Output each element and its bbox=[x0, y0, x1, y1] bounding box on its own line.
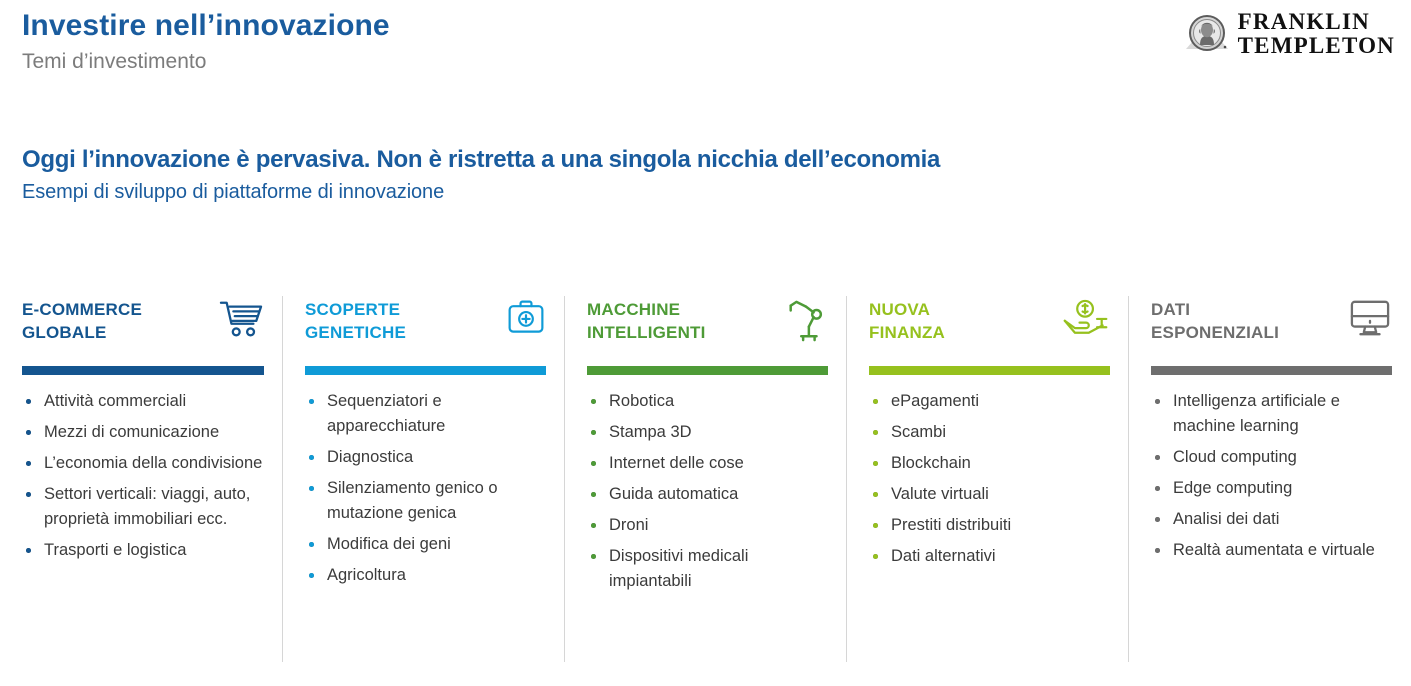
list-item: Dati alternativi bbox=[869, 544, 1110, 569]
franklin-templeton-logo: FRANKLIN TEMPLETON bbox=[1184, 10, 1395, 58]
column-title-line2: GLOBALE bbox=[22, 321, 142, 344]
logo-line-templeton: TEMPLETON bbox=[1238, 34, 1395, 58]
column-title-line2: FINANZA bbox=[869, 321, 945, 344]
column-title-line1: SCOPERTE bbox=[305, 298, 406, 321]
column-header: E-COMMERCE GLOBALE bbox=[22, 296, 264, 358]
bullet-dot bbox=[873, 492, 878, 497]
list-item-label: Agricoltura bbox=[327, 566, 406, 584]
bullet-dot bbox=[309, 399, 314, 404]
column-accent-bar bbox=[869, 366, 1110, 375]
title-block: Investire nell’innovazione Temi d’invest… bbox=[22, 8, 390, 76]
column-header: NUOVA FINANZA bbox=[869, 296, 1110, 358]
shopping-cart-icon bbox=[216, 296, 264, 346]
column-scoperte-genetiche: SCOPERTE GENETICHE Sequenziatori e appar… bbox=[282, 296, 564, 662]
list-item: Attività commerciali bbox=[22, 389, 264, 414]
column-macchine-intelligenti: MACCHINE INTELLIGENTI Robotica Stampa bbox=[564, 296, 846, 662]
column-title-line2: GENETICHE bbox=[305, 321, 406, 344]
list-item: L’economia della condivisione bbox=[22, 451, 264, 476]
bullet-dot bbox=[591, 430, 596, 435]
bullet-dot bbox=[26, 461, 31, 466]
bullet-dot bbox=[309, 573, 314, 578]
list-item: Dispositivi medicali impiantabili bbox=[587, 544, 828, 594]
list-item: Sequenziatori e apparecchiature bbox=[305, 389, 546, 439]
list-item-label: Cloud computing bbox=[1173, 448, 1297, 466]
list-item-label: Prestiti distribuiti bbox=[891, 516, 1011, 534]
bullet-dot bbox=[873, 430, 878, 435]
list-item-label: Silenziamento genico o mutazione genica bbox=[327, 479, 498, 522]
bullet-dot bbox=[873, 461, 878, 466]
column-bullet-list: Robotica Stampa 3D Internet delle cose G… bbox=[587, 389, 828, 594]
list-item: Robotica bbox=[587, 389, 828, 414]
column-title-line1: MACCHINE bbox=[587, 298, 706, 321]
bullet-dot bbox=[309, 486, 314, 491]
bullet-dot bbox=[1155, 548, 1160, 553]
medical-bag-icon bbox=[498, 296, 546, 346]
theme-columns: E-COMMERCE GLOBALE Attività commerciali … bbox=[0, 296, 1411, 662]
list-item-label: Trasporti e logistica bbox=[44, 541, 186, 559]
bullet-dot bbox=[1155, 399, 1160, 404]
column-bullet-list: ePagamenti Scambi Blockchain Valute virt… bbox=[869, 389, 1110, 569]
list-item: Blockchain bbox=[869, 451, 1110, 476]
column-header: SCOPERTE GENETICHE bbox=[305, 296, 546, 358]
franklin-portrait-medallion-icon bbox=[1184, 11, 1230, 57]
hand-holding-coin-icon bbox=[1062, 296, 1110, 346]
bullet-dot bbox=[26, 399, 31, 404]
headline-block: Oggi l’innovazione è pervasiva. Non è ri… bbox=[22, 145, 1362, 205]
list-item: Cloud computing bbox=[1151, 445, 1392, 470]
list-item: Scambi bbox=[869, 420, 1110, 445]
bullet-dot bbox=[873, 523, 878, 528]
column-bullet-list: Sequenziatori e apparecchiature Diagnost… bbox=[305, 389, 546, 588]
column-dati-esponenziali: DATI ESPONENZIALI Intelligenza artificia… bbox=[1128, 296, 1410, 662]
list-item: ePagamenti bbox=[869, 389, 1110, 414]
list-item-label: Settori verticali: viaggi, auto, proprie… bbox=[44, 485, 250, 528]
list-item-label: Internet delle cose bbox=[609, 454, 744, 472]
page-title: Investire nell’innovazione bbox=[22, 8, 390, 44]
list-item: Silenziamento genico o mutazione genica bbox=[305, 476, 546, 526]
headline-main: Oggi l’innovazione è pervasiva. Non è ri… bbox=[22, 145, 1362, 175]
bullet-dot bbox=[1155, 517, 1160, 522]
column-title-line2: ESPONENZIALI bbox=[1151, 321, 1279, 344]
bullet-dot bbox=[1155, 455, 1160, 460]
column-accent-bar bbox=[587, 366, 828, 375]
list-item: Valute virtuali bbox=[869, 482, 1110, 507]
column-title-line1: E-COMMERCE bbox=[22, 298, 142, 321]
column-e-commerce-globale: E-COMMERCE GLOBALE Attività commerciali … bbox=[0, 296, 282, 662]
list-item: Stampa 3D bbox=[587, 420, 828, 445]
column-title: NUOVA FINANZA bbox=[869, 296, 945, 344]
list-item-label: L’economia della condivisione bbox=[44, 454, 262, 472]
list-item-label: Mezzi di comunicazione bbox=[44, 423, 219, 441]
column-header: DATI ESPONENZIALI bbox=[1151, 296, 1392, 358]
logo-wordmark: FRANKLIN TEMPLETON bbox=[1238, 10, 1395, 58]
column-nuova-finanza: NUOVA FINANZA ePagamenti Scambi Blockcha… bbox=[846, 296, 1128, 662]
column-title-line2: INTELLIGENTI bbox=[587, 321, 706, 344]
list-item: Trasporti e logistica bbox=[22, 538, 264, 563]
logo-line-franklin: FRANKLIN bbox=[1238, 10, 1395, 34]
column-bullet-list: Intelligenza artificiale e machine learn… bbox=[1151, 389, 1392, 563]
column-title: E-COMMERCE GLOBALE bbox=[22, 296, 142, 344]
list-item-label: Edge computing bbox=[1173, 479, 1292, 497]
bullet-dot bbox=[873, 554, 878, 559]
page-header: Investire nell’innovazione Temi d’invest… bbox=[0, 0, 1411, 110]
column-bullet-list: Attività commerciali Mezzi di comunicazi… bbox=[22, 389, 264, 563]
bullet-dot bbox=[309, 455, 314, 460]
list-item: Agricoltura bbox=[305, 563, 546, 588]
list-item: Settori verticali: viaggi, auto, proprie… bbox=[22, 482, 264, 532]
page-subtitle: Temi d’investimento bbox=[22, 48, 390, 76]
bullet-dot bbox=[591, 523, 596, 528]
bullet-dot bbox=[26, 492, 31, 497]
bullet-dot bbox=[591, 461, 596, 466]
list-item: Mezzi di comunicazione bbox=[22, 420, 264, 445]
list-item-label: Guida automatica bbox=[609, 485, 738, 503]
bullet-dot bbox=[1155, 486, 1160, 491]
bullet-dot bbox=[591, 492, 596, 497]
list-item: Droni bbox=[587, 513, 828, 538]
column-title: SCOPERTE GENETICHE bbox=[305, 296, 406, 344]
bullet-dot bbox=[873, 399, 878, 404]
list-item-label: Valute virtuali bbox=[891, 485, 989, 503]
list-item-label: Diagnostica bbox=[327, 448, 413, 466]
desktop-monitor-icon bbox=[1344, 296, 1392, 346]
list-item-label: Dispositivi medicali impiantabili bbox=[609, 547, 748, 590]
list-item-label: Sequenziatori e apparecchiature bbox=[327, 392, 445, 435]
list-item-label: Attività commerciali bbox=[44, 392, 186, 410]
list-item-label: Modifica dei geni bbox=[327, 535, 451, 553]
robot-arm-icon bbox=[780, 296, 828, 346]
list-item-label: Analisi dei dati bbox=[1173, 510, 1279, 528]
bullet-dot bbox=[309, 542, 314, 547]
list-item-label: Droni bbox=[609, 516, 648, 534]
column-accent-bar bbox=[22, 366, 264, 375]
list-item-label: Realtà aumentata e virtuale bbox=[1173, 541, 1375, 559]
column-header: MACCHINE INTELLIGENTI bbox=[587, 296, 828, 358]
list-item-label: Scambi bbox=[891, 423, 946, 441]
list-item-label: Robotica bbox=[609, 392, 674, 410]
list-item-label: ePagamenti bbox=[891, 392, 979, 410]
bullet-dot bbox=[591, 554, 596, 559]
list-item: Diagnostica bbox=[305, 445, 546, 470]
column-title-line1: NUOVA bbox=[869, 298, 945, 321]
list-item: Intelligenza artificiale e machine learn… bbox=[1151, 389, 1392, 439]
column-accent-bar bbox=[305, 366, 546, 375]
list-item-label: Stampa 3D bbox=[609, 423, 692, 441]
list-item: Internet delle cose bbox=[587, 451, 828, 476]
list-item: Edge computing bbox=[1151, 476, 1392, 501]
list-item-label: Dati alternativi bbox=[891, 547, 996, 565]
list-item: Realtà aumentata e virtuale bbox=[1151, 538, 1392, 563]
column-title: DATI ESPONENZIALI bbox=[1151, 296, 1279, 344]
column-accent-bar bbox=[1151, 366, 1392, 375]
list-item: Analisi dei dati bbox=[1151, 507, 1392, 532]
headline-subtext: Esempi di sviluppo di piattaforme di inn… bbox=[22, 179, 1362, 205]
bullet-dot bbox=[26, 430, 31, 435]
column-title-line1: DATI bbox=[1151, 298, 1279, 321]
list-item: Prestiti distribuiti bbox=[869, 513, 1110, 538]
list-item-label: Blockchain bbox=[891, 454, 971, 472]
bullet-dot bbox=[26, 548, 31, 553]
list-item: Modifica dei geni bbox=[305, 532, 546, 557]
list-item: Guida automatica bbox=[587, 482, 828, 507]
column-title: MACCHINE INTELLIGENTI bbox=[587, 296, 706, 344]
list-item-label: Intelligenza artificiale e machine learn… bbox=[1173, 392, 1340, 435]
bullet-dot bbox=[591, 399, 596, 404]
